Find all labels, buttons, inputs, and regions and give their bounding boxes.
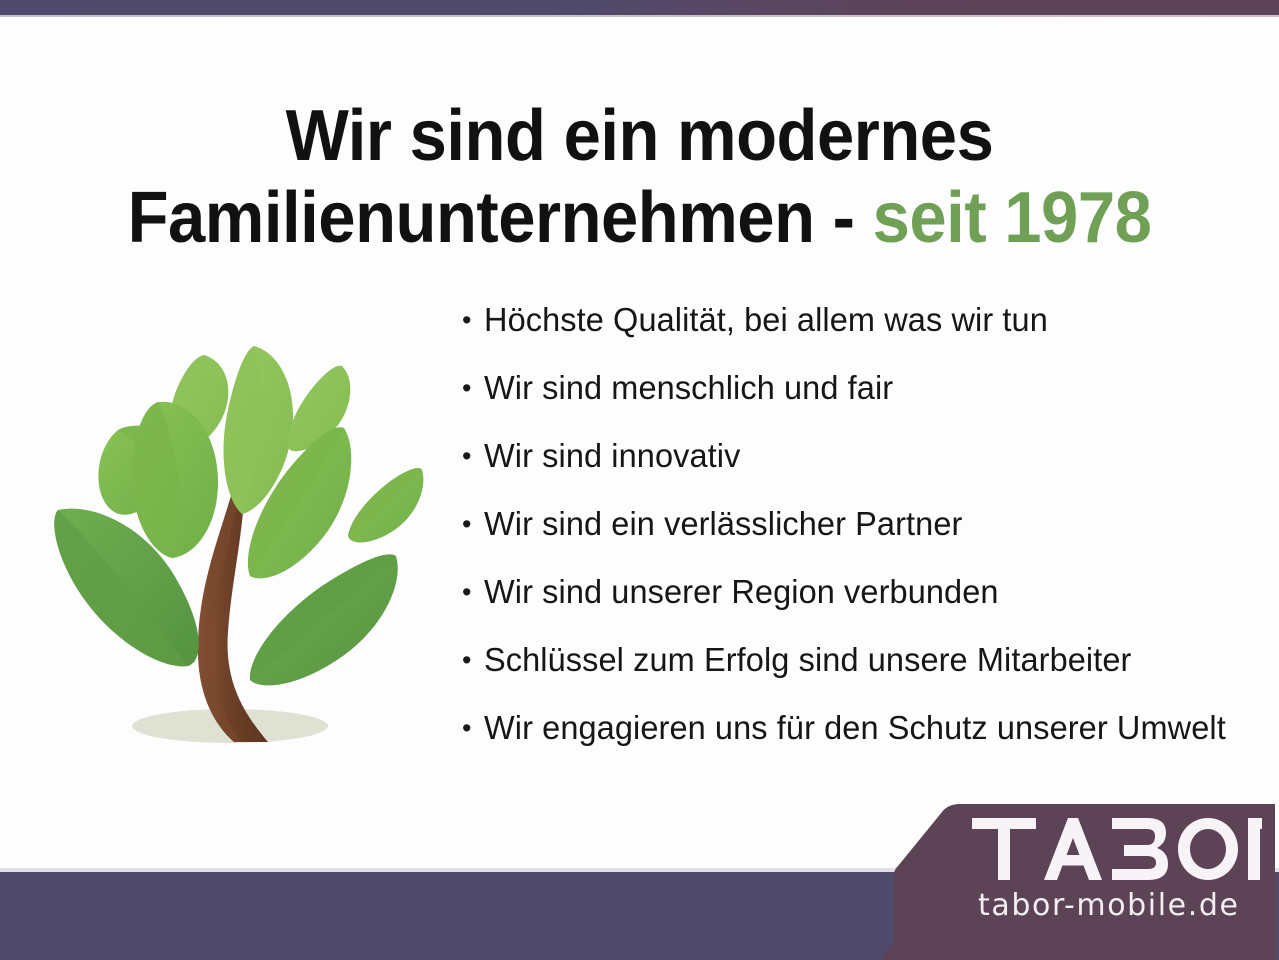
bullet-marker-icon: • [458, 640, 484, 680]
list-item: • Wir sind ein verlässlicher Partner [458, 504, 1268, 572]
list-item: • Wir sind unserer Region verbunden [458, 572, 1268, 640]
value-bullet-list: • Höchste Qualität, bei allem was wir tu… [458, 300, 1268, 776]
bullet-marker-icon: • [458, 708, 484, 748]
top-accent-bar-hairline [0, 15, 1279, 17]
tree-illustration [22, 332, 452, 762]
leaf-right-outer [348, 468, 423, 543]
list-item-label: Schlüssel zum Erfolg sind unsere Mitarbe… [484, 640, 1131, 680]
page-title-line-2-prefix: Familienunternehmen - [128, 178, 873, 258]
list-item: • Wir engagieren uns für den Schutz unse… [458, 708, 1268, 776]
list-item: • Wir sind innovativ [458, 436, 1268, 504]
list-item-label: Wir sind menschlich und fair [484, 368, 893, 408]
list-item-label: Wir sind unserer Region verbunden [484, 572, 999, 612]
page-title: Wir sind ein modernes Familienunternehme… [45, 100, 1234, 255]
bullet-marker-icon: • [458, 300, 484, 340]
list-item: • Höchste Qualität, bei allem was wir tu… [458, 300, 1268, 368]
list-item: • Wir sind menschlich und fair [458, 368, 1268, 436]
list-item-label: Wir sind innovativ [484, 436, 740, 476]
slide-canvas: Wir sind ein modernes Familienunternehme… [0, 0, 1279, 960]
top-accent-bar [0, 0, 1279, 15]
page-title-line-2: Familienunternehmen - seit 1978 [45, 182, 1234, 255]
list-item-label: Wir engagieren uns für den Schutz unsere… [484, 708, 1226, 748]
list-item: • Schlüssel zum Erfolg sind unsere Mitar… [458, 640, 1268, 708]
bullet-marker-icon: • [458, 368, 484, 408]
page-title-accent-year: seit 1978 [873, 178, 1152, 258]
bullet-marker-icon: • [458, 436, 484, 476]
list-item-label: Wir sind ein verlässlicher Partner [484, 504, 962, 544]
bullet-marker-icon: • [458, 504, 484, 544]
page-title-line-1: Wir sind ein modernes [45, 100, 1234, 173]
brand-logo-panel: tabor-mobile.de [880, 800, 1279, 960]
list-item-label: Höchste Qualität, bei allem was wir tun [484, 300, 1048, 340]
bullet-marker-icon: • [458, 572, 484, 612]
